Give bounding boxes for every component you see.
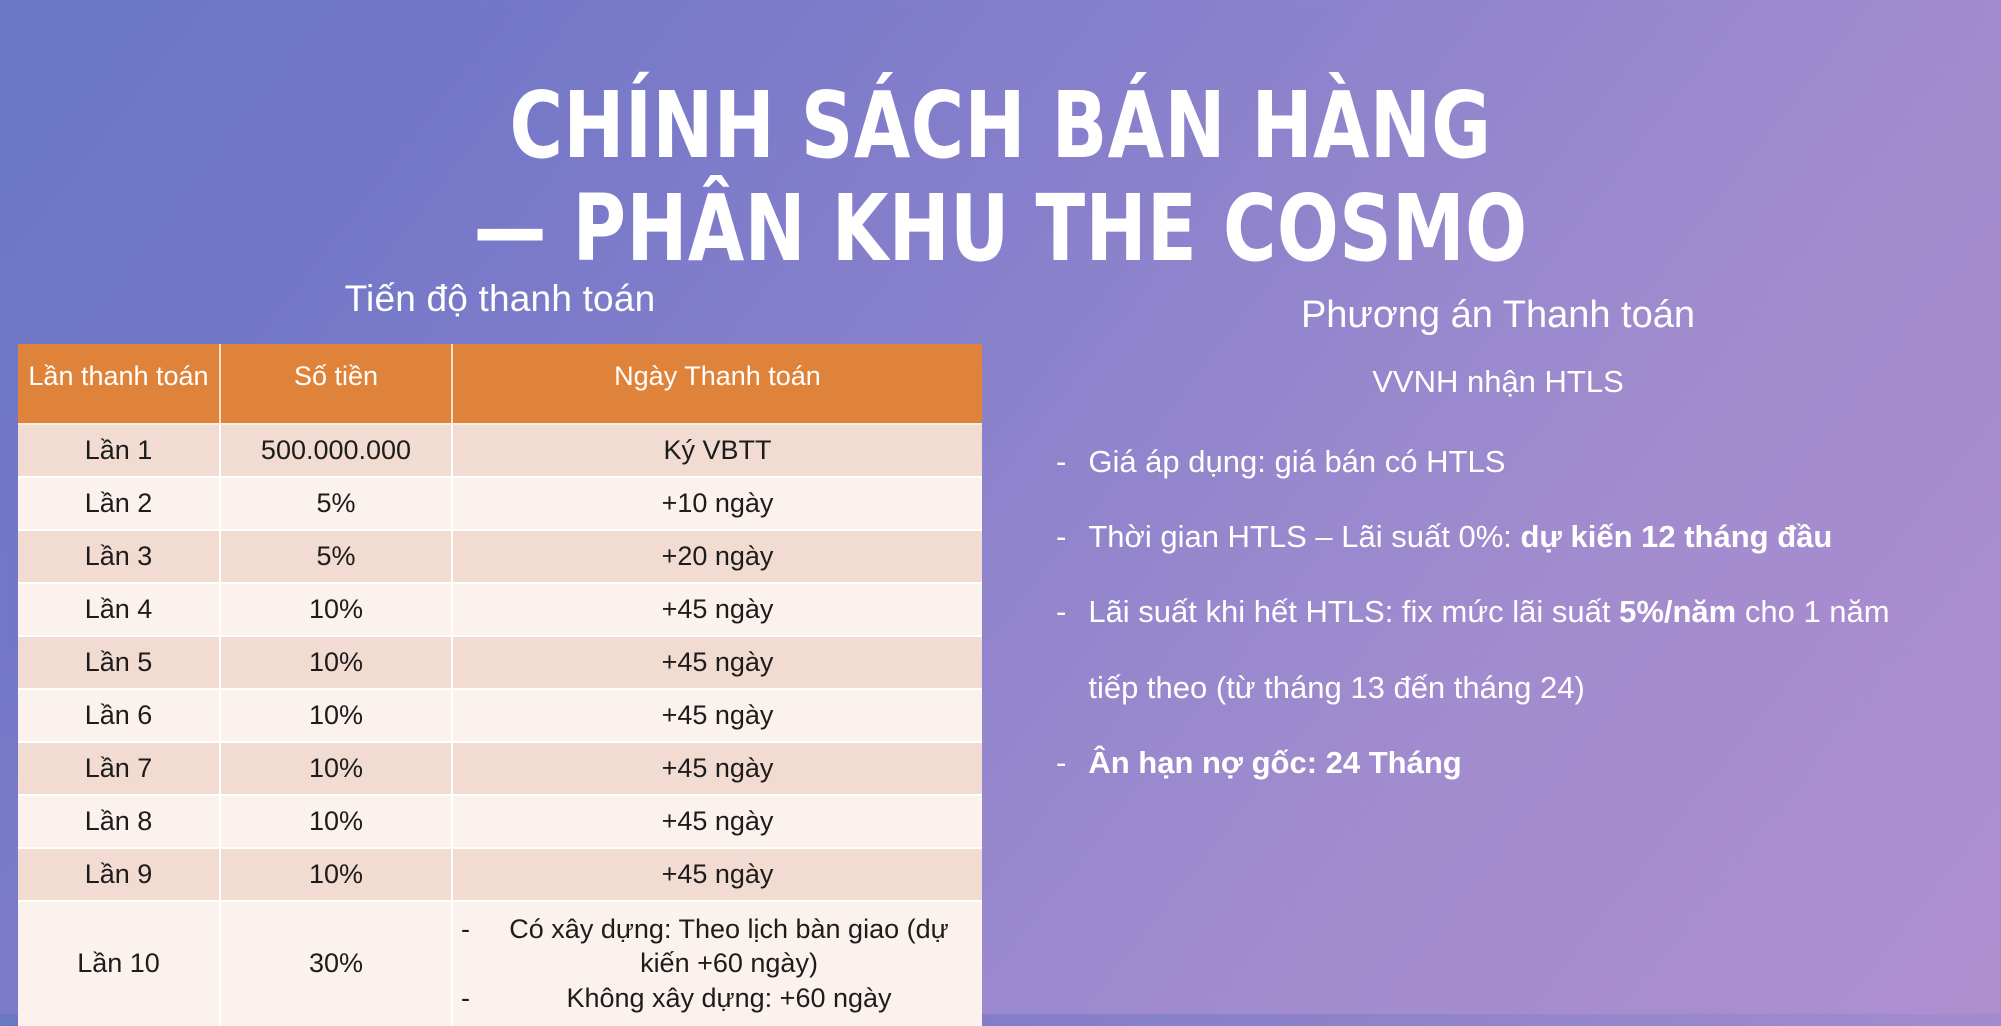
table-row: Lần 4 10% +45 ngày <box>18 583 982 636</box>
cell-so-tien: 10% <box>220 689 452 742</box>
payment-schedule-table: Lần thanh toán Số tiền Ngày Thanh toán L… <box>18 344 982 1026</box>
table-row: Lần 5 10% +45 ngày <box>18 636 982 689</box>
table-caption: Tiến độ thanh toán <box>18 278 982 320</box>
cell-so-tien: 5% <box>220 530 452 583</box>
list-item: - Có xây dựng: Theo lịch bàn giao (dự ki… <box>461 912 974 981</box>
policy-text-bold: 5%/năm <box>1619 594 1736 629</box>
cell-ngay: +20 ngày <box>452 530 982 583</box>
cell-so-tien: 10% <box>220 583 452 636</box>
cell-lan: Lần 3 <box>18 530 220 583</box>
table-row: Lần 7 10% +45 ngày <box>18 742 982 795</box>
cell-ngay: +45 ngày <box>452 636 982 689</box>
policy-text-bold: dự kiến 12 tháng đầu <box>1520 519 1832 554</box>
cell-ngay: Ký VBTT <box>452 424 982 477</box>
payment-plan-panel: Phương án Thanh toán VVNH nhận HTLS - Gi… <box>1040 288 2001 816</box>
cell-so-tien: 10% <box>220 742 452 795</box>
cell-ngay-bullets: - Có xây dựng: Theo lịch bàn giao (dự ki… <box>452 901 982 1026</box>
bullet-dash-icon: - <box>1056 440 1066 484</box>
table-row: Lần 6 10% +45 ngày <box>18 689 982 742</box>
cell-lan: Lần 2 <box>18 477 220 530</box>
cell-lan: Lần 1 <box>18 424 220 477</box>
table-body: Lần 1 500.000.000 Ký VBTT Lần 2 5% +10 n… <box>18 424 982 1026</box>
cell-ngay: +10 ngày <box>452 477 982 530</box>
cell-lan: Lần 7 <box>18 742 220 795</box>
cell-so-tien: 30% <box>220 901 452 1026</box>
table-row-last: Lần 10 30% - Có xây dựng: Theo lịch bàn … <box>18 901 982 1026</box>
table-row: Lần 8 10% +45 ngày <box>18 795 982 848</box>
cell-so-tien: 10% <box>220 795 452 848</box>
policy-text-plain-after: cho 1 năm <box>1736 594 1889 629</box>
bullet-dash-icon: - <box>461 981 470 1016</box>
table-row: Lần 2 5% +10 ngày <box>18 477 982 530</box>
policy-text: Giá áp dụng: giá bán có HTLS <box>1088 440 2001 484</box>
cell-ngay: +45 ngày <box>452 583 982 636</box>
cell-ngay: +45 ngày <box>452 689 982 742</box>
bullet-text: Không xây dựng: +60 ngày <box>484 981 974 1016</box>
list-item: - Thời gian HTLS – Lãi suất 0%: dự kiến … <box>1056 515 2001 559</box>
list-item: - Giá áp dụng: giá bán có HTLS <box>1056 440 2001 484</box>
bullet-dash-icon: - <box>1056 741 1066 785</box>
cell-lan: Lần 10 <box>18 901 220 1026</box>
cell-so-tien: 5% <box>220 477 452 530</box>
policy-text-plain-before: Giá áp dụng: giá bán có HTLS <box>1088 444 1505 479</box>
list-item: - Lãi suất khi hết HTLS: fix mức lãi suấ… <box>1056 590 2001 710</box>
cell-so-tien: 500.000.000 <box>220 424 452 477</box>
payment-plan-subheading: VVNH nhận HTLS <box>1040 359 2001 406</box>
table-header-row: Lần thanh toán Số tiền Ngày Thanh toán <box>18 344 982 424</box>
bullet-dash-icon: - <box>1056 515 1066 559</box>
policy-list: - Giá áp dụng: giá bán có HTLS - Thời gi… <box>1040 440 2001 785</box>
column-header-lan-thanh-toan: Lần thanh toán <box>18 344 220 424</box>
cell-lan: Lần 8 <box>18 795 220 848</box>
table-row: Lần 9 10% +45 ngày <box>18 848 982 901</box>
cell-ngay: +45 ngày <box>452 742 982 795</box>
column-header-so-tien: Số tiền <box>220 344 452 424</box>
page-title: CHÍNH SÁCH BÁN HÀNG — PHÂN KHU THE COSMO <box>120 74 1881 280</box>
cell-lan: Lần 6 <box>18 689 220 742</box>
page-title-line-2: — PHÂN KHU THE COSMO <box>120 177 1881 280</box>
policy-text: Ân hạn nợ gốc: 24 Tháng <box>1088 741 2001 785</box>
table-row: Lần 3 5% +20 ngày <box>18 530 982 583</box>
bullet-text: Có xây dựng: Theo lịch bàn giao (dự kiến… <box>484 912 974 981</box>
policy-text: Thời gian HTLS – Lãi suất 0%: dự kiến 12… <box>1088 515 2001 559</box>
column-header-ngay-thanh-toan: Ngày Thanh toán <box>452 344 982 424</box>
page-title-line-1: CHÍNH SÁCH BÁN HÀNG <box>120 74 1881 177</box>
policy-text-bold: Ân hạn nợ gốc: 24 Tháng <box>1088 745 1461 780</box>
cell-ngay: +45 ngày <box>452 795 982 848</box>
cell-so-tien: 10% <box>220 848 452 901</box>
cell-ngay: +45 ngày <box>452 848 982 901</box>
policy-text-plain-before: Thời gian HTLS – Lãi suất 0%: <box>1088 519 1520 554</box>
cell-so-tien: 10% <box>220 636 452 689</box>
cell-lan: Lần 9 <box>18 848 220 901</box>
list-item: - Không xây dựng: +60 ngày <box>461 981 974 1016</box>
cell-lan: Lần 5 <box>18 636 220 689</box>
policy-text: Lãi suất khi hết HTLS: fix mức lãi suất … <box>1088 590 2001 710</box>
bullet-dash-icon: - <box>1056 590 1066 634</box>
bullet-dash-icon: - <box>461 912 470 947</box>
payment-schedule-panel: Tiến độ thanh toán Lần thanh toán Số tiề… <box>18 278 982 1026</box>
payment-plan-heading: Phương án Thanh toán <box>1040 288 2001 343</box>
policy-text-continuation: tiếp theo (từ tháng 13 đến tháng 24) <box>1088 666 2001 710</box>
policy-text-plain-before: Lãi suất khi hết HTLS: fix mức lãi suất <box>1088 594 1619 629</box>
table-row: Lần 1 500.000.000 Ký VBTT <box>18 424 982 477</box>
cell-lan: Lần 4 <box>18 583 220 636</box>
list-item: - Ân hạn nợ gốc: 24 Tháng <box>1056 741 2001 785</box>
